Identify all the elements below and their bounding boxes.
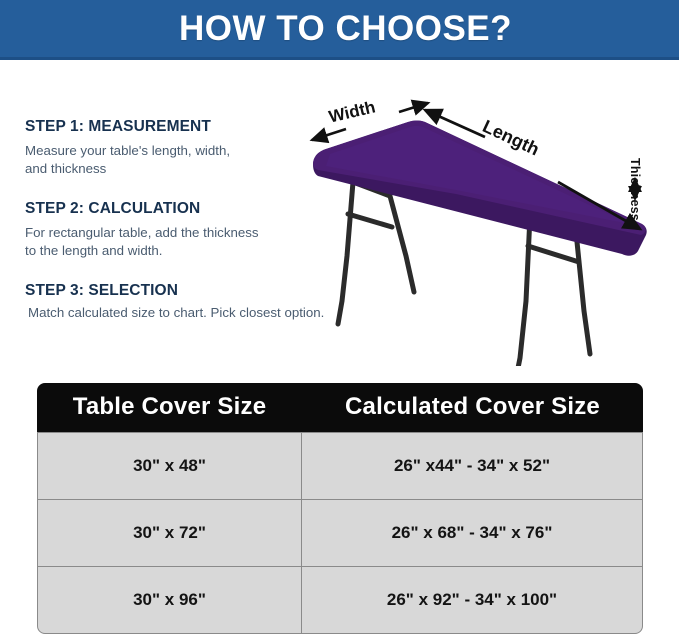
cell-table-cover-size: 30" x 48"	[37, 432, 302, 499]
table-header-row: Table Cover Size Calculated Cover Size	[37, 383, 643, 432]
size-chart-header: Table Cover Size Calculated Cover Size	[37, 383, 643, 432]
cell-calculated-cover-size: 26" x 92" - 34" x 100"	[302, 566, 643, 634]
cell-calculated-cover-size: 26" x44" - 34" x 52"	[302, 432, 643, 499]
table-row: 30" x 72" 26" x 68" - 34" x 76"	[37, 499, 643, 566]
table-row: 30" x 48" 26" x44" - 34" x 52"	[37, 432, 643, 499]
folding-table-illustration: Width Length Thickness	[290, 96, 679, 366]
cell-table-cover-size: 30" x 72"	[37, 499, 302, 566]
page-title: HOW TO CHOOSE?	[179, 11, 512, 46]
cell-table-cover-size: 30" x 96"	[37, 566, 302, 634]
width-arrow-left	[312, 129, 346, 140]
table-row: 30" x 96" 26" x 92" - 34" x 100"	[37, 566, 643, 634]
cell-calculated-cover-size: 26" x 68" - 34" x 76"	[302, 499, 643, 566]
thickness-label: Thickness	[628, 158, 642, 221]
column-header-table-cover-size: Table Cover Size	[37, 383, 302, 432]
size-chart-body: 30" x 48" 26" x44" - 34" x 52" 30" x 72"…	[37, 432, 643, 634]
column-header-calculated-cover-size: Calculated Cover Size	[302, 383, 643, 432]
size-chart-table: Table Cover Size Calculated Cover Size 3…	[37, 383, 643, 634]
page-header-banner: HOW TO CHOOSE?	[0, 0, 679, 57]
header-underline	[0, 57, 679, 60]
width-arrow-right	[399, 103, 428, 112]
